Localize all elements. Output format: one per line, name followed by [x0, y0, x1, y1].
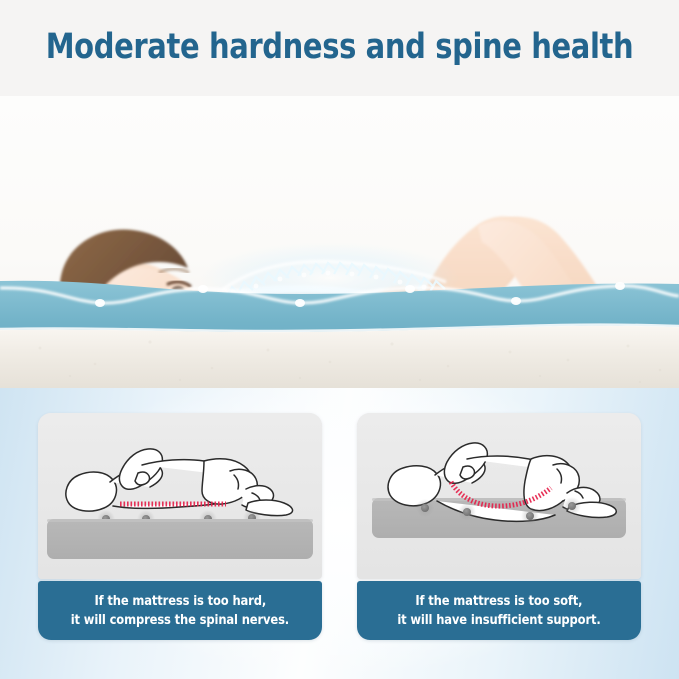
caption-too-hard: If the mattress is too hard, it will com…	[38, 581, 322, 640]
mattress-bar-hard	[47, 519, 313, 559]
hero-section: Moderate hardness and spine health	[0, 0, 679, 388]
hero-photo	[0, 96, 679, 388]
caption-too-soft: If the mattress is too soft, it will hav…	[357, 581, 641, 640]
caption-line-2: it will compress the spinal nerves.	[71, 611, 289, 630]
page-title: Moderate hardness and spine health	[27, 27, 652, 67]
panel-too-soft: If the mattress is too soft, it will hav…	[357, 413, 641, 640]
caption-line-2: it will have insufficient support.	[397, 611, 600, 630]
illustration-card-too-hard	[38, 413, 322, 579]
comparison-section: If the mattress is too hard, it will com…	[0, 388, 679, 679]
panel-too-hard: If the mattress is too hard, it will com…	[38, 413, 322, 640]
caption-line-1: If the mattress is too soft,	[416, 592, 583, 611]
mattress	[0, 278, 679, 388]
illustration-card-too-soft	[357, 413, 641, 579]
product-infographic: Moderate hardness and spine health	[0, 0, 679, 679]
caption-line-1: If the mattress is too hard,	[94, 592, 266, 611]
